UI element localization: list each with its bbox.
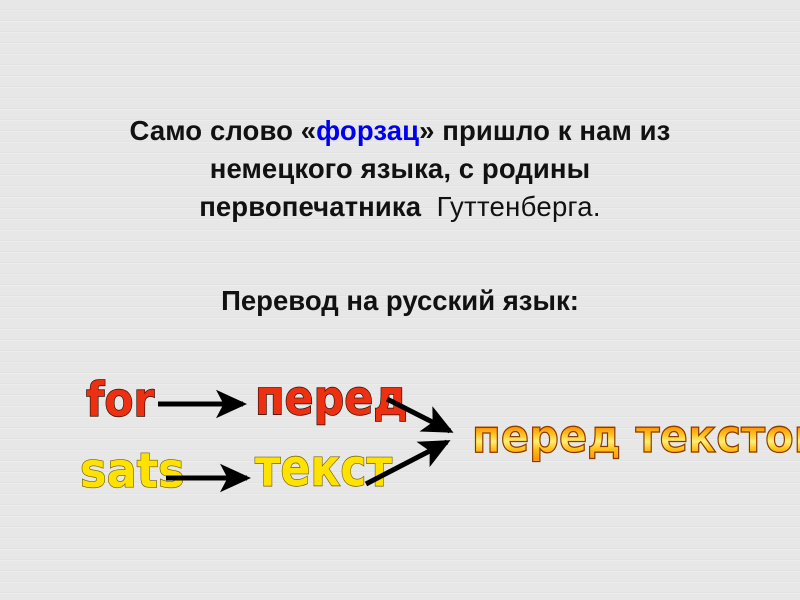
wordart-pered-tekstom: перед текстом (472, 415, 800, 461)
subheading: Перевод на русский язык: (0, 285, 800, 317)
headline-line3-name: Гуттенберга. (437, 191, 601, 222)
headline-line-3: первопечатника Гуттенберга. (0, 188, 800, 226)
headline-text-after: » пришло к нам из (419, 115, 670, 146)
page-title: Само слово «форзац» пришло к нам из неме… (0, 112, 800, 226)
wordart-sats: sats (80, 447, 185, 495)
headline-highlight-word: форзац (316, 115, 419, 146)
wordart-pered: перед (255, 374, 408, 422)
headline-text-before: Само слово « (130, 115, 317, 146)
slide-canvas: Само слово «форзац» пришло к нам из неме… (0, 0, 800, 600)
wordart-for: for (86, 376, 154, 423)
wordart-tekst: текст (255, 442, 392, 494)
headline-line3-bold: первопечатника (199, 191, 421, 222)
headline-line-1: Само слово «форзац» пришло к нам из (0, 112, 800, 150)
headline-line-2: немецкого языка, с родины (0, 150, 800, 188)
